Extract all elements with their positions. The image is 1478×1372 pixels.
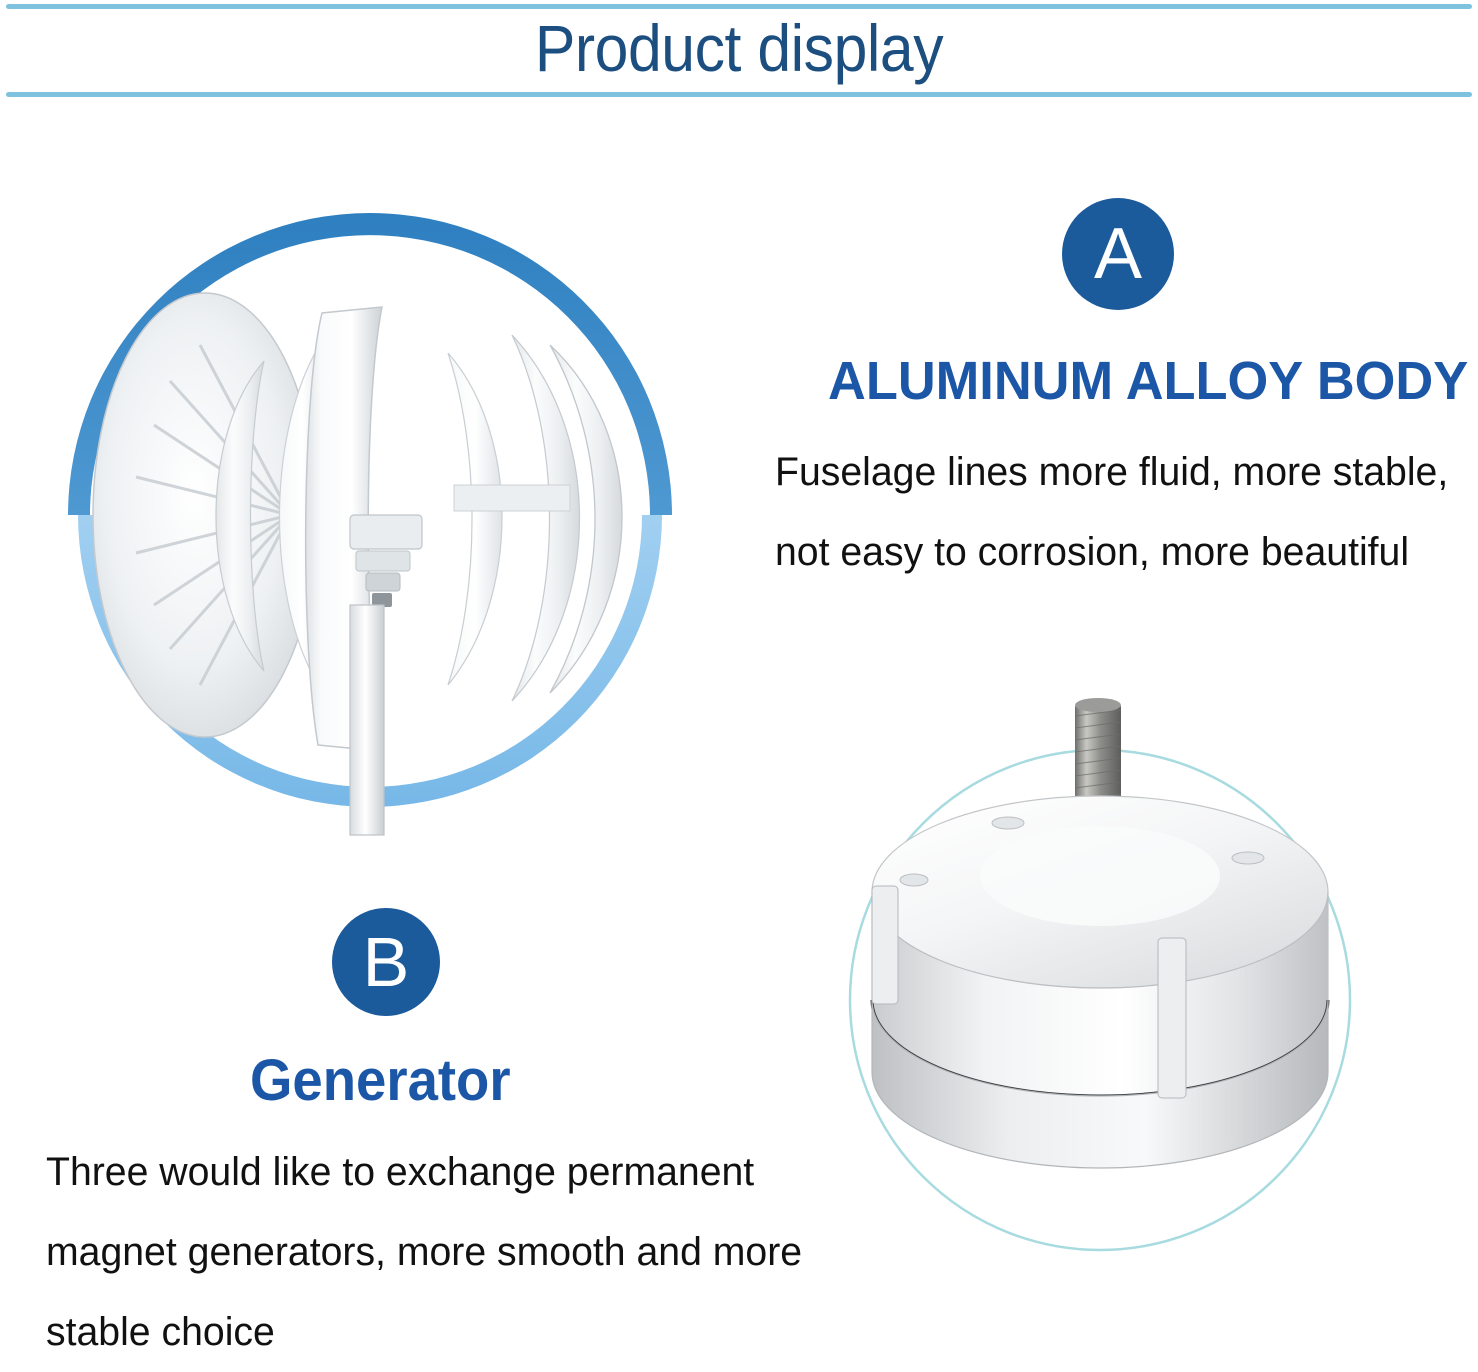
page-title: Product display: [59, 6, 1419, 90]
feature-badge-a: A: [1062, 198, 1174, 310]
feature-badge-b: B: [332, 908, 440, 1016]
feature-body-b-line-1: Three would like to exchange permanent: [46, 1132, 754, 1212]
generator-figure: [828, 680, 1373, 1300]
feature-heading-b: Generator: [250, 1050, 511, 1112]
header-rule-bottom: [6, 92, 1472, 97]
feature-body-b-line-2: magnet generators, more smooth and more: [46, 1212, 802, 1292]
feature-heading-a: ALUMINUM ALLOY BODY: [828, 352, 1468, 410]
feature-body-b-line-3: stable choice: [46, 1292, 275, 1372]
feature-body-a-line-2: not easy to corrosion, more beautiful: [775, 512, 1409, 592]
turbine-mast: [350, 605, 384, 835]
page-header: Product display: [0, 0, 1478, 104]
generator-housing-top: [872, 796, 1328, 988]
feature-body-a-line-1: Fuselage lines more fluid, more stable,: [775, 432, 1448, 512]
wind-turbine-figure: [50, 185, 690, 845]
turbine-blades-right: [448, 335, 580, 701]
